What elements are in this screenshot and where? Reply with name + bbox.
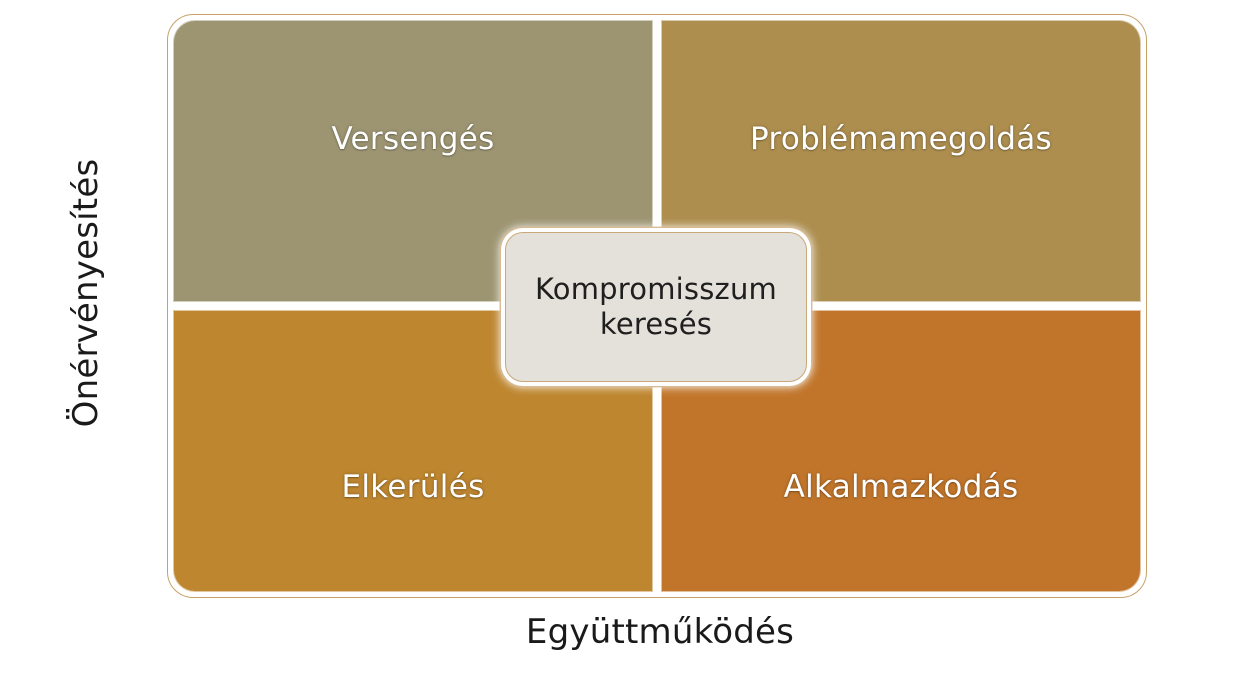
diagram-canvas: Önérvényesítés Versengés Problémamegoldá…	[0, 0, 1240, 679]
conflict-matrix: Versengés Problémamegoldás Elkerülés Alk…	[165, 12, 1145, 586]
quadrant-label-collaborating: Problémamegoldás	[662, 121, 1140, 157]
quadrant-label-avoiding: Elkerülés	[174, 469, 652, 505]
quadrant-label-accommodating: Alkalmazkodás	[662, 469, 1140, 505]
center-node-label: Kompromisszum keresés	[535, 272, 777, 343]
center-node-compromising[interactable]: Kompromisszum keresés	[505, 232, 807, 382]
y-axis-label: Önérvényesítés	[58, 63, 114, 523]
x-axis-label: Együttműködés	[355, 608, 965, 656]
quadrant-label-competing: Versengés	[174, 121, 652, 157]
